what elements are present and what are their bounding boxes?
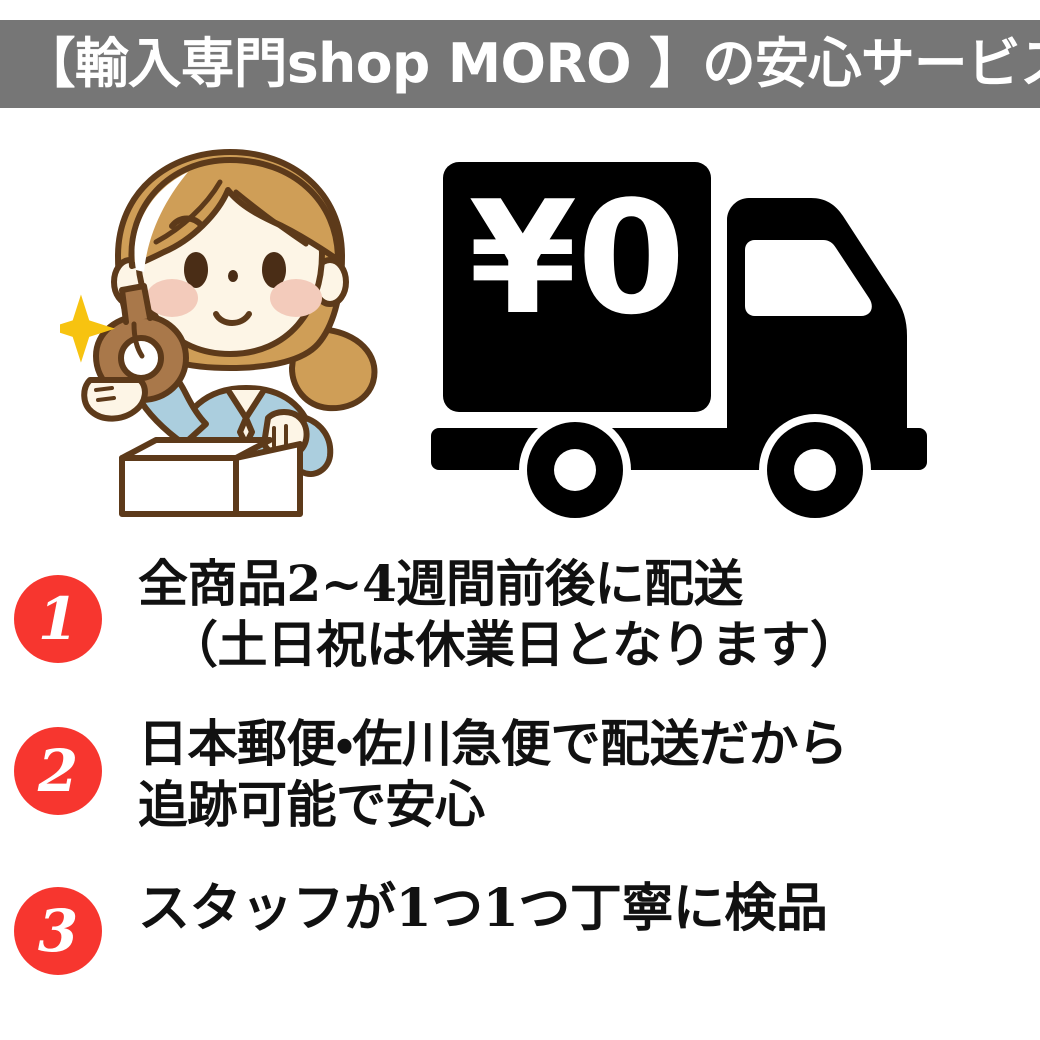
truck-illustration-svg: ¥0 (425, 140, 995, 525)
truck-cab (727, 198, 907, 440)
service-item-2: 2 日本郵便・佐川急便で配送だから 追跡可能で安心 (0, 713, 1040, 835)
service-text-2-line-1: 日本郵便・佐川急便で配送だから (138, 713, 1040, 774)
service-text-1-line-2: （土日祝は休業日となります） (138, 614, 1040, 675)
nose (228, 270, 238, 282)
tape-handle (122, 286, 150, 322)
blush-right (270, 279, 322, 317)
service-text-3-line-1: スタッフが1つ1つ丁寧に検品 (138, 877, 1040, 940)
service-text-2-line-2: 追跡可能で安心 (138, 774, 1040, 835)
woman-illustration-svg (60, 148, 400, 520)
front-wheel-hub (794, 449, 836, 491)
blush-left (146, 279, 198, 317)
delivery-truck-free-shipping-icon: ¥0 (425, 140, 995, 525)
service-banner: 【輸入専門shop MORO 】の安心サービス (0, 0, 1040, 1040)
service-list: 1 全商品2~4週間前後に配送 （土日祝は休業日となります） 2 日本郵便・佐川… (0, 545, 1040, 975)
service-number-badge-3: 3 (14, 887, 102, 975)
service-item-3: 3 スタッフが1つ1つ丁寧に検品 (0, 877, 1040, 975)
service-text-3: スタッフが1つ1つ丁寧に検品 (138, 877, 1040, 940)
rear-wheel-hub (554, 449, 596, 491)
service-text-1-line-1: 全商品2~4週間前後に配送 (138, 553, 1040, 614)
cargo-label: ¥0 (468, 167, 685, 349)
illustration-area: ¥0 (0, 120, 1040, 530)
service-text-1: 全商品2~4週間前後に配送 （土日祝は休業日となります） (138, 553, 1040, 675)
woman-packing-box-illustration (60, 148, 400, 520)
service-text-2: 日本郵便・佐川急便で配送だから 追跡可能で安心 (138, 713, 1040, 835)
service-number-badge-1: 1 (14, 575, 102, 663)
service-number-badge-2: 2 (14, 727, 102, 815)
page-title: 【輸入専門shop MORO 】の安心サービス (22, 37, 1040, 91)
header-band: 【輸入専門shop MORO 】の安心サービス (0, 20, 1040, 108)
service-item-1: 1 全商品2~4週間前後に配送 （土日祝は休業日となります） (0, 553, 1040, 675)
